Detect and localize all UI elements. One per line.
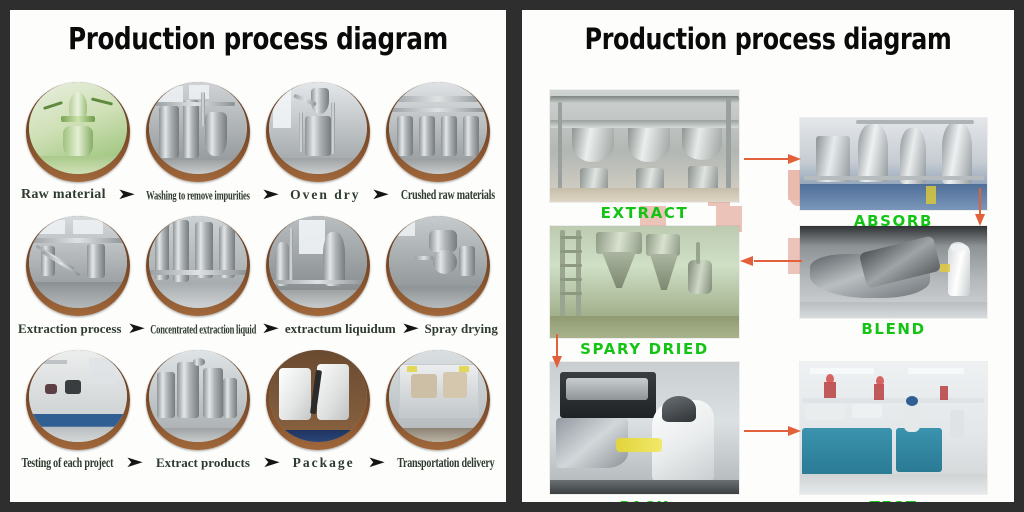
process-step-washing[interactable] <box>146 82 250 182</box>
flow-caption-extract: EXTRACT <box>550 204 739 222</box>
process-label-raw-material: Raw material <box>21 187 106 203</box>
spray-dried-photo <box>550 226 739 338</box>
concentrated-extraction-liquid-photo <box>149 216 247 308</box>
process-step-spray-drying[interactable] <box>386 216 490 316</box>
process-step-raw-material[interactable] <box>26 82 130 182</box>
arrow-right-icon: ➤ <box>261 322 280 337</box>
arrow-absorb-to-blend <box>975 188 985 228</box>
package-photo <box>269 350 367 442</box>
process-label-crushed-raw-materials: Crushed raw materials <box>401 188 495 203</box>
flow-step-pack[interactable]: PACK <box>550 362 739 494</box>
process-step-extractum-liquidum[interactable] <box>266 216 370 316</box>
arrow-blend-to-spray <box>740 256 802 266</box>
flow-step-absorb[interactable]: ABSORB <box>800 118 987 210</box>
arrow-right-icon: ➤ <box>260 188 279 203</box>
flow-caption-blend: BLEND <box>800 320 987 338</box>
extract-photo <box>550 90 739 202</box>
arrow-right-icon: ➤ <box>401 322 420 337</box>
arrow-right-icon: ➤ <box>117 188 136 203</box>
process-row-2: Extraction process ➤ Concentrated extrac… <box>10 216 506 350</box>
arrow-right-icon: ➤ <box>262 456 281 471</box>
washing-photo <box>149 82 247 174</box>
process-row-3: Testing of each project ➤ Extract produc… <box>10 350 506 484</box>
process-row-1: Raw material ➤ Washing to remove impurit… <box>10 82 506 216</box>
extract-products-photo <box>149 350 247 442</box>
process-step-extract-products[interactable] <box>146 350 250 450</box>
flow-step-spray-dried[interactable]: SPARY DRIED <box>550 226 739 338</box>
process-row-1-circles <box>10 82 506 182</box>
process-circle-grid: Raw material ➤ Washing to remove impurit… <box>10 82 506 484</box>
process-label-testing: Testing of each project <box>22 456 114 471</box>
arrow-extract-to-absorb <box>744 154 802 164</box>
spray-drying-photo <box>389 216 487 308</box>
extraction-process-photo <box>29 216 127 308</box>
raw-material-photo <box>29 82 127 174</box>
transportation-delivery-photo <box>389 350 487 442</box>
process-label-extract-products: Extract products <box>156 455 250 471</box>
process-label-extractum-liquidum: extractum liquidum <box>285 321 396 337</box>
process-step-transportation-delivery[interactable] <box>386 350 490 450</box>
oven-dry-photo <box>269 82 367 174</box>
process-label-transportation-delivery: Transportation delivery <box>397 456 494 471</box>
pack-photo <box>550 362 739 494</box>
flow-step-extract[interactable]: EXTRACT <box>550 90 739 202</box>
process-row-3-labels: Testing of each project ➤ Extract produc… <box>10 450 506 476</box>
process-label-extraction-process: Extraction process <box>18 321 121 337</box>
arrow-right-icon: ➤ <box>366 456 385 471</box>
crushed-raw-materials-photo <box>389 82 487 174</box>
process-label-package: Package <box>293 455 355 471</box>
left-panel-title: Production process diagram <box>55 24 462 56</box>
flow-step-blend[interactable]: BLEND <box>800 226 987 318</box>
testing-photo <box>29 350 127 442</box>
screenshot-root: Production process diagram <box>0 0 1024 512</box>
flow-step-test[interactable]: TEST <box>800 362 987 494</box>
left-panel: Production process diagram <box>10 10 506 502</box>
process-label-concentrated-extraction-liquid: Concentrated extraction liquid <box>150 322 256 337</box>
right-panel: Production process diagram <box>522 10 1014 502</box>
flow-caption-spray-dried: SPARY DRIED <box>550 340 739 358</box>
flow-photo-grid: EXTRACT ABSORB <box>522 78 1014 502</box>
process-row-3-circles <box>10 350 506 450</box>
process-step-package[interactable] <box>266 350 370 450</box>
arrow-pack-to-test <box>744 426 802 436</box>
arrow-right-icon: ➤ <box>371 188 390 203</box>
process-step-testing[interactable] <box>26 350 130 450</box>
process-step-oven-dry[interactable] <box>266 82 370 182</box>
test-photo <box>800 362 987 494</box>
process-label-washing: Washing to remove impurities <box>146 188 250 203</box>
absorb-photo <box>800 118 987 210</box>
process-step-extraction-process[interactable] <box>26 216 130 316</box>
process-step-concentrated-extraction-liquid[interactable] <box>146 216 250 316</box>
arrow-right-icon: ➤ <box>126 322 145 337</box>
process-step-crushed-raw-materials[interactable] <box>386 82 490 182</box>
blend-photo <box>800 226 987 318</box>
right-panel-title: Production process diagram <box>566 24 969 54</box>
process-label-spray-drying: Spray drying <box>425 321 498 337</box>
process-row-2-labels: Extraction process ➤ Concentrated extrac… <box>10 316 506 342</box>
arrow-spray-to-pack <box>552 334 562 370</box>
flow-caption-test: TEST <box>800 498 987 502</box>
extractum-liquidum-photo <box>269 216 367 308</box>
process-row-2-circles <box>10 216 506 316</box>
arrow-right-icon: ➤ <box>125 456 144 471</box>
process-row-1-labels: Raw material ➤ Washing to remove impurit… <box>10 182 506 208</box>
flow-caption-pack: PACK <box>550 498 739 502</box>
process-label-oven-dry: Oven dry <box>290 187 360 203</box>
